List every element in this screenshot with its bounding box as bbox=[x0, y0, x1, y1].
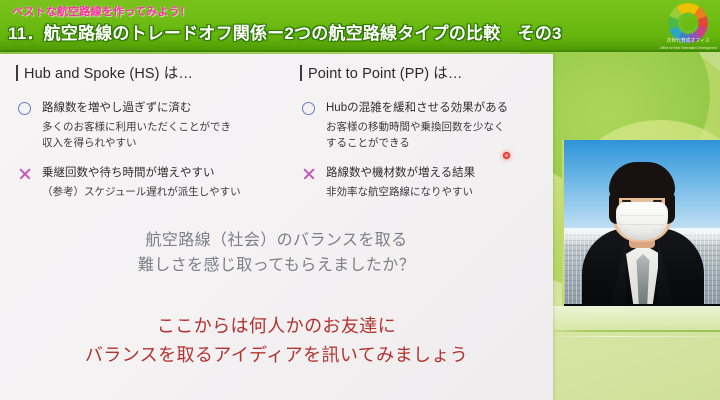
column-heading-label: Point to Point (PP) は… bbox=[308, 62, 463, 83]
column-point-to-point: Point to Point (PP) は… Hubの混雑を緩和させる効果がある… bbox=[300, 62, 550, 201]
slide-header-bar: ベストな航空路線を作ってみよう！ 11．航空路線のトレードオフ関係ー2つの航空路… bbox=[0, 0, 720, 52]
point-main-text: 乗継回数や待ち時間が増えやすい bbox=[42, 166, 288, 180]
column-heading: Point to Point (PP) は… bbox=[300, 62, 550, 83]
page-title: 11．航空路線のトレードオフ関係ー2つの航空路線タイプの比較 その3 bbox=[8, 19, 562, 44]
point-main-text: 路線数を増やし過ぎずに済む bbox=[42, 101, 288, 115]
point-item: Hubの混雑を緩和させる効果がある お客様の移動時間や乗換回数を少なく すること… bbox=[300, 101, 550, 152]
circle-mark-icon bbox=[18, 101, 34, 117]
point-sub-text: 非効率な航空路線になりやすい bbox=[326, 185, 550, 201]
presentation-screen: ベストな航空路線を作ってみよう！ 11．航空路線のトレードオフ関係ー2つの航空路… bbox=[0, 0, 720, 400]
background-highlight-band bbox=[540, 306, 720, 332]
laser-pointer-dot bbox=[503, 152, 510, 159]
header-kicker: ベストな航空路線を作ってみよう！ bbox=[12, 3, 191, 19]
point-item: 路線数や機材数が増える結果 非効率な航空路線になりやすい bbox=[300, 166, 550, 201]
presenter-face-mask bbox=[616, 202, 668, 240]
logo-caption: 次世代育成オフィス bbox=[660, 37, 716, 44]
point-sub-text: お客様の移動時間や乗換回数を少なく することができる bbox=[326, 120, 550, 152]
x-mark-icon bbox=[302, 166, 318, 182]
x-mark-icon bbox=[18, 166, 34, 182]
point-sub-text: 多くのお客様に利用いただくことができ 収入を得られやすい bbox=[42, 120, 288, 152]
heading-bar-icon bbox=[16, 65, 18, 81]
column-hub-and-spoke: Hub and Spoke (HS) は… 路線数を増やし過ぎずに済む 多くのお… bbox=[16, 62, 288, 201]
point-main-text: 路線数や機材数が増える結果 bbox=[326, 166, 550, 180]
column-heading: Hub and Spoke (HS) は… bbox=[16, 62, 288, 83]
call-to-action-text: ここからは何人かのお友達に バランスを取るアイディアを訊いてみましょう bbox=[0, 312, 553, 370]
presenter-video-tile[interactable] bbox=[562, 140, 720, 306]
circle-mark-icon bbox=[302, 101, 318, 117]
point-item: 乗継回数や待ち時間が増えやすい （参考）スケジュール遅れが派生しやすい bbox=[16, 166, 288, 201]
column-heading-label: Hub and Spoke (HS) は… bbox=[24, 62, 193, 83]
organization-logo: 次世代育成オフィス Office for Next Generation Dev… bbox=[660, 2, 716, 50]
video-bottom-edge bbox=[564, 304, 720, 306]
presenter-tie bbox=[637, 254, 650, 306]
background-swoosh-highlight bbox=[540, 336, 720, 337]
heading-bar-icon bbox=[300, 65, 302, 81]
point-sub-text: （参考）スケジュール遅れが派生しやすい bbox=[42, 185, 288, 201]
summary-question-text: 航空路線（社会）のバランスを取る 難しさを感じ取ってもらえましたか？ bbox=[0, 229, 553, 279]
point-main-text: Hubの混雑を緩和させる効果がある bbox=[326, 101, 550, 115]
logo-caption-sub: Office for Next Generation Development bbox=[660, 46, 716, 50]
slide-content-panel: Hub and Spoke (HS) は… 路線数を増やし過ぎずに済む 多くのお… bbox=[0, 54, 553, 400]
point-item: 路線数を増やし過ぎずに済む 多くのお客様に利用いただくことができ 収入を得られや… bbox=[16, 101, 288, 152]
background-swoosh-line bbox=[540, 330, 720, 332]
